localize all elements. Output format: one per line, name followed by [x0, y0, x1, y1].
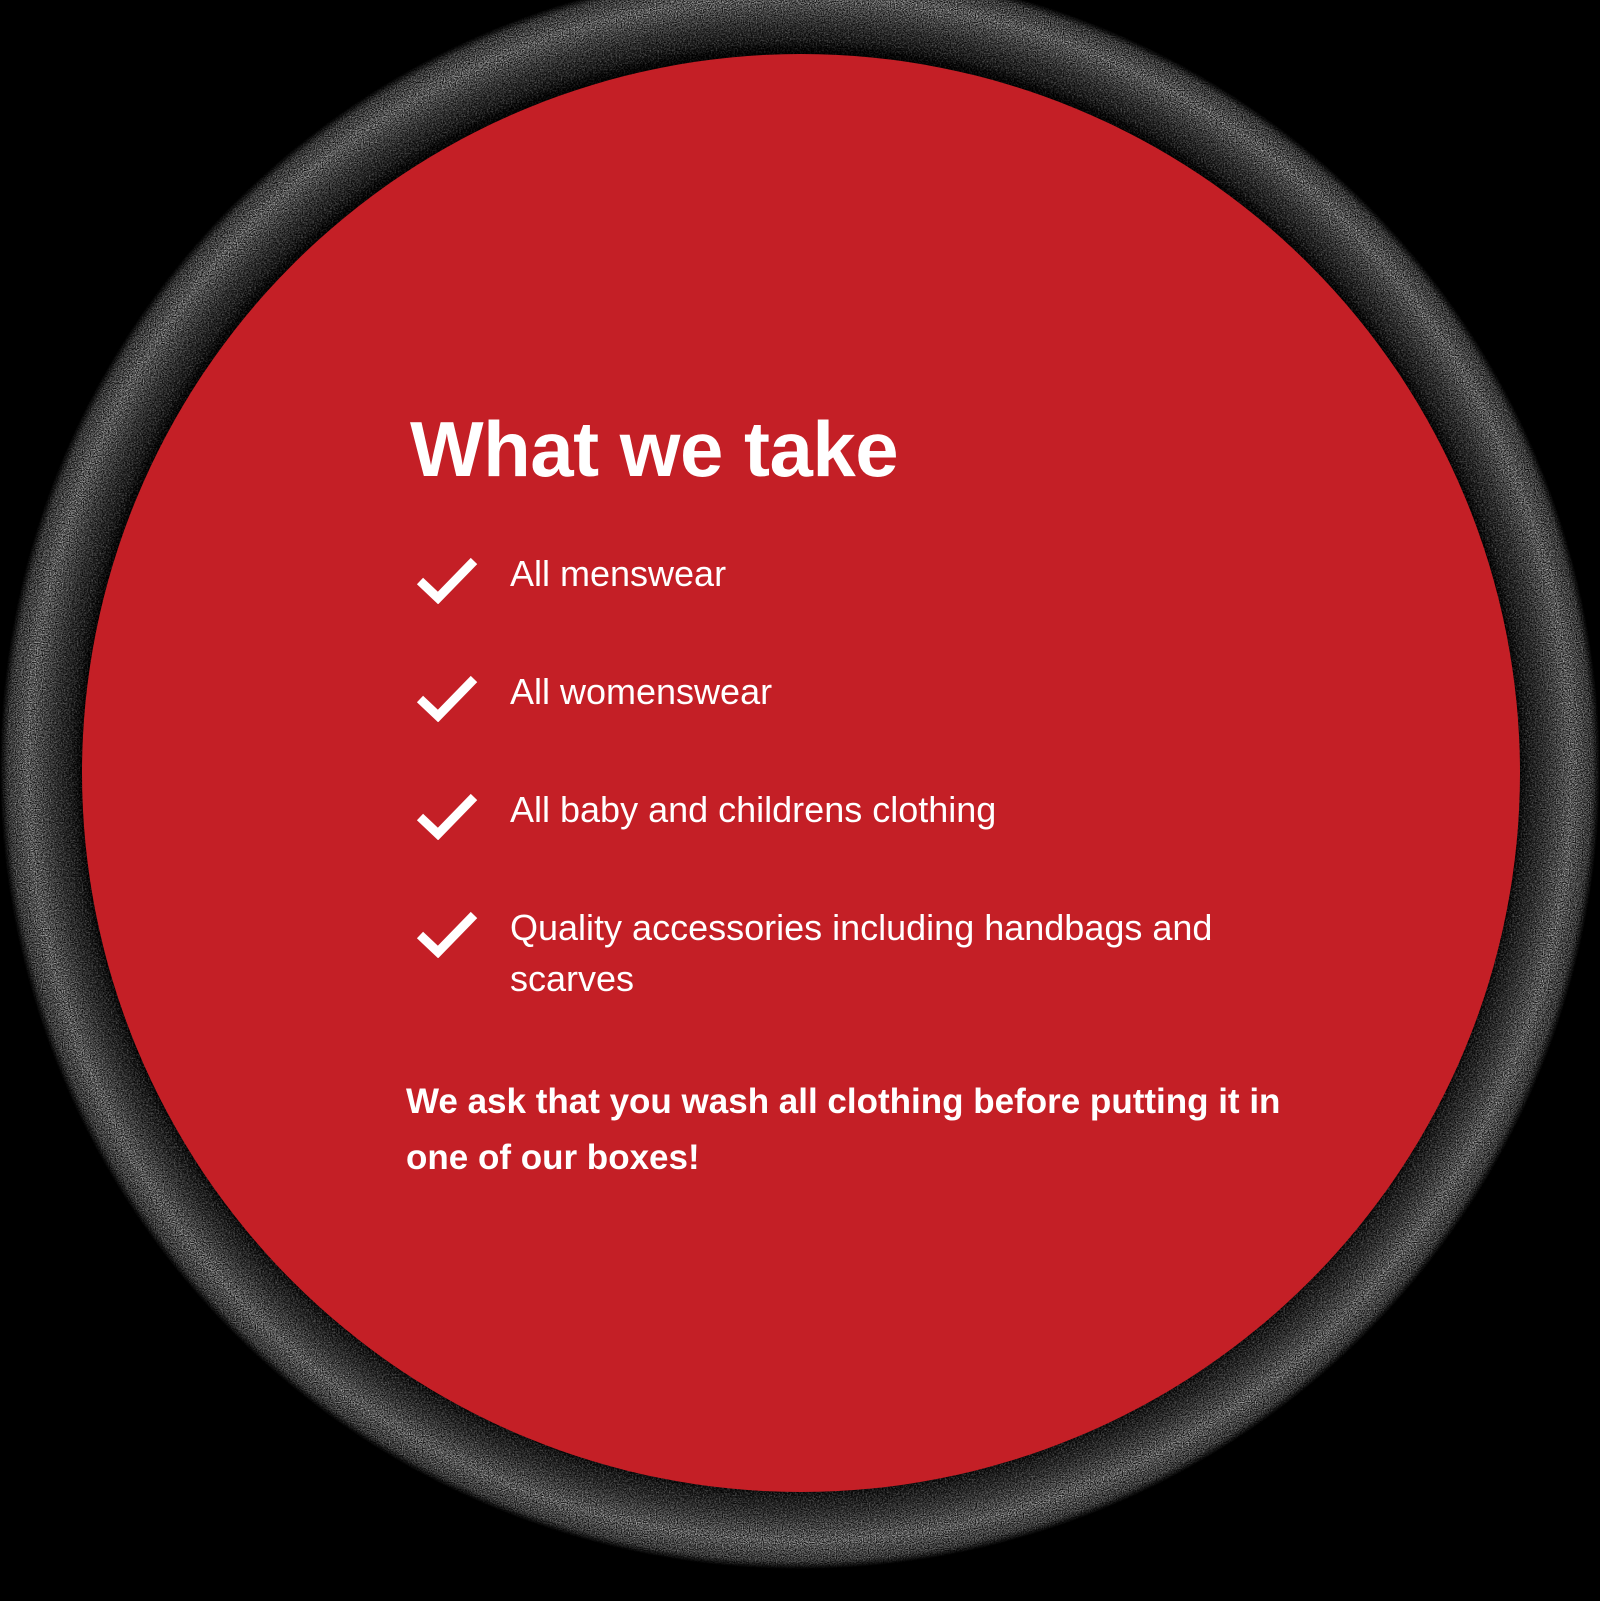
- list-item-label: All womenswear: [478, 666, 772, 717]
- list-item-label: Quality accessories including handbags a…: [478, 902, 1300, 1004]
- check-icon: [416, 910, 478, 958]
- check-icon: [416, 674, 478, 722]
- badge-content: What we take All menswear: [404, 409, 1364, 1220]
- list-item-label: All menswear: [478, 548, 726, 599]
- check-icon: [416, 792, 478, 840]
- list-item-label: All baby and childrens clothing: [478, 784, 996, 835]
- list-item: Quality accessories including handbags a…: [404, 902, 1364, 1004]
- badge-canvas: What we take All menswear: [0, 0, 1600, 1601]
- list-item: All womenswear: [404, 666, 1364, 722]
- wash-clothing-note: We ask that you wash all clothing before…: [406, 1074, 1351, 1185]
- red-disc: What we take All menswear: [82, 54, 1520, 1492]
- list-item: All baby and childrens clothing: [404, 784, 1364, 840]
- what-we-take-list: All menswear All womenswear: [404, 548, 1364, 1004]
- check-icon: [416, 556, 478, 604]
- page-title: What we take: [410, 409, 1364, 490]
- list-item: All menswear: [404, 548, 1364, 604]
